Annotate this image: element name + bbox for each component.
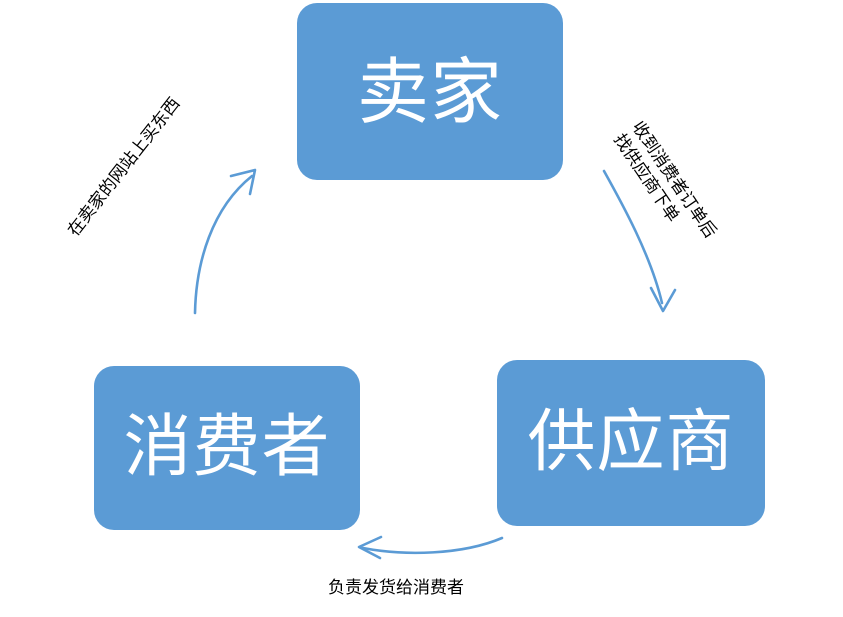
node-consumer[interactable]: 消费者 — [94, 366, 360, 530]
node-supplier[interactable]: 供应商 — [497, 360, 765, 526]
edge-label-consumer-to-seller: 在卖家的网站上买东西 — [64, 94, 186, 241]
diagram-canvas: 卖家 消费者 供应商 在卖家的网站上买东西 收到消费者订单后 找供应商下单 负责… — [0, 0, 843, 617]
arrow-supplier-to-consumer-head — [359, 537, 381, 558]
node-seller-label: 卖家 — [357, 56, 503, 128]
arrow-seller-to-supplier-head — [651, 288, 675, 311]
edge-label-consumer-to-seller-line-1: 在卖家的网站上买东西 — [64, 94, 186, 241]
edge-label-supplier-to-consumer-line-1: 负责发货给消费者 — [328, 578, 464, 600]
arrow-supplier-to-consumer-line — [363, 538, 502, 553]
arrow-consumer-to-seller-head — [231, 170, 255, 194]
edge-label-seller-to-supplier: 收到消费者订单后 找供应商下单 — [608, 118, 720, 255]
edge-label-supplier-to-consumer: 负责发货给消费者 — [328, 578, 464, 600]
arrow-consumer-to-seller-line — [195, 176, 252, 313]
node-consumer-label: 消费者 — [123, 414, 330, 482]
node-supplier-label: 供应商 — [527, 409, 734, 477]
node-seller[interactable]: 卖家 — [297, 3, 563, 180]
